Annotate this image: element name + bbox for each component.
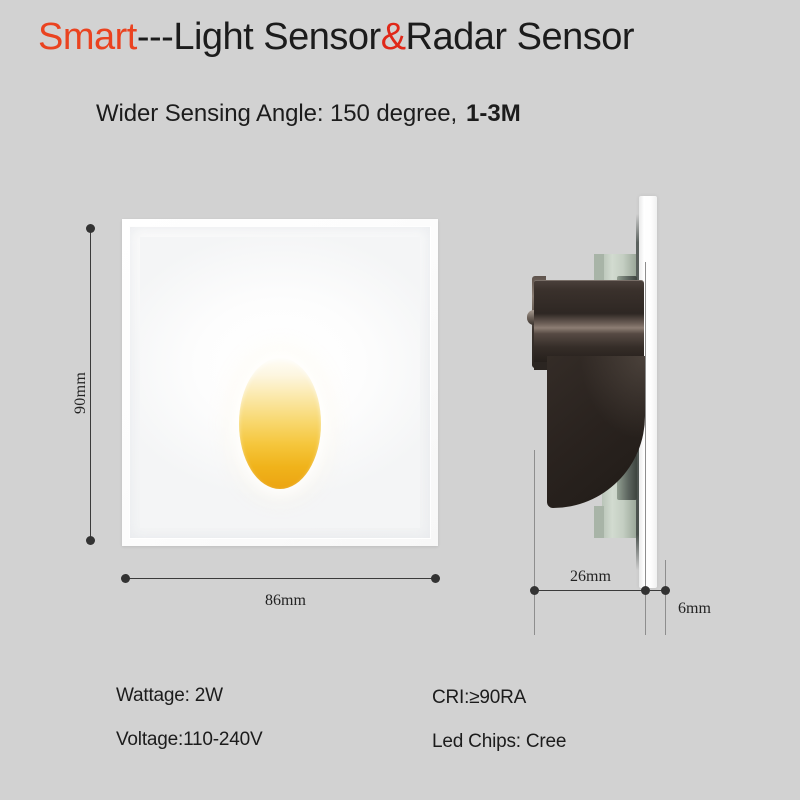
dimension-depth-dot-left <box>530 586 539 595</box>
title-ampersand: & <box>381 16 406 58</box>
dimension-height-dot-bottom <box>86 536 95 545</box>
spec-wattage: Wattage: 2W <box>116 685 223 707</box>
panel-bevel-edge <box>129 226 431 539</box>
dimension-height-dot-top <box>86 224 95 233</box>
housing-shadow-line <box>534 362 548 370</box>
housing-driver-body <box>534 280 644 364</box>
bracket-notch-bottom <box>594 506 604 538</box>
subtitle: Wider Sensing Angle: 150 degree,1-3M <box>96 100 521 128</box>
dimension-faceplate-label: 6mm <box>678 600 711 618</box>
subtitle-range-text: 1-3M <box>466 100 521 127</box>
page-title: Smart---Light Sensor&Radar Sensor <box>38 17 634 59</box>
spec-led-chips: Led Chips: Cree <box>432 731 566 753</box>
square-light-panel-front-view <box>122 219 438 546</box>
dimension-height-label: 90mm <box>72 372 90 414</box>
title-end-text: Radar Sensor <box>406 16 634 58</box>
dimension-width-label: 86mm <box>265 592 306 610</box>
spec-voltage: Voltage:110-240V <box>116 729 262 751</box>
dimension-depth-dot-right <box>641 586 650 595</box>
panel-face-surface <box>140 237 420 528</box>
extension-line-faceplate-right <box>665 560 666 635</box>
led-oval-emitter <box>239 358 321 489</box>
title-middle-text: ---Light Sensor <box>137 16 381 58</box>
extension-line-depth-right <box>645 262 646 635</box>
dimension-height-line <box>90 228 91 540</box>
subtitle-main-text: Wider Sensing Angle: 150 degree, <box>96 100 457 127</box>
dimension-width-dot-left <box>121 574 130 583</box>
dimension-faceplate-dot-right <box>661 586 670 595</box>
dimension-depth-line <box>538 590 645 591</box>
bracket-notch-top <box>594 254 604 280</box>
title-accent-word: Smart <box>38 16 137 58</box>
spec-cri: CRI:≥90RA <box>432 687 526 709</box>
light-fixture-side-view <box>515 196 690 588</box>
dimension-depth-label: 26mm <box>570 568 611 586</box>
panel-outer-frame <box>122 219 438 546</box>
dimension-width-dot-right <box>431 574 440 583</box>
extension-line-depth-left <box>534 450 535 635</box>
dimension-width-line <box>126 578 436 579</box>
